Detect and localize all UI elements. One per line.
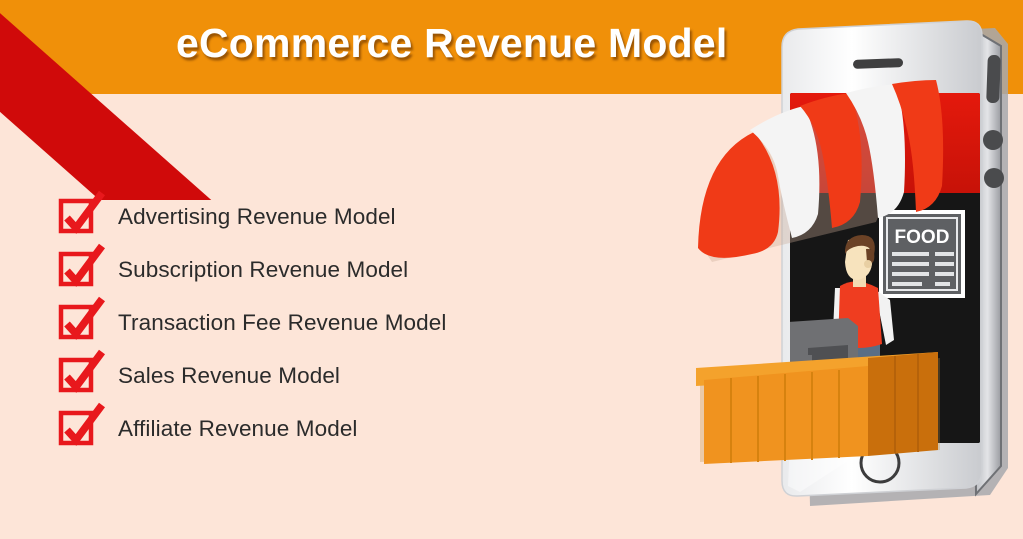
stall-counter bbox=[696, 352, 940, 464]
checkbox-checked-icon[interactable] bbox=[58, 303, 98, 343]
phone-earpiece bbox=[853, 58, 903, 69]
list-item-label: Subscription Revenue Model bbox=[118, 257, 408, 283]
infographic-canvas: eCommerce Revenue Model Advertising Reve… bbox=[0, 0, 1023, 539]
list-item-label: Affiliate Revenue Model bbox=[118, 416, 358, 442]
page-title: eCommerce Revenue Model bbox=[176, 20, 727, 67]
list-item-label: Sales Revenue Model bbox=[118, 363, 340, 389]
smartphone-food-stall-illustration: FOOD bbox=[690, 0, 1023, 539]
food-menu-board: FOOD bbox=[879, 210, 965, 298]
checklist: Advertising Revenue Model Subscription R… bbox=[58, 190, 618, 455]
list-item[interactable]: Transaction Fee Revenue Model bbox=[58, 296, 618, 349]
list-item[interactable]: Subscription Revenue Model bbox=[58, 243, 618, 296]
checkbox-checked-icon[interactable] bbox=[58, 356, 98, 396]
list-item-label: Transaction Fee Revenue Model bbox=[118, 310, 447, 336]
list-item[interactable]: Advertising Revenue Model bbox=[58, 190, 618, 243]
list-item[interactable]: Affiliate Revenue Model bbox=[58, 402, 618, 455]
food-sign-label: FOOD bbox=[895, 227, 950, 248]
list-item[interactable]: Sales Revenue Model bbox=[58, 349, 618, 402]
checkbox-checked-icon[interactable] bbox=[58, 409, 98, 449]
checkbox-checked-icon[interactable] bbox=[58, 250, 98, 290]
list-item-label: Advertising Revenue Model bbox=[118, 204, 396, 230]
checkbox-checked-icon[interactable] bbox=[58, 197, 98, 237]
